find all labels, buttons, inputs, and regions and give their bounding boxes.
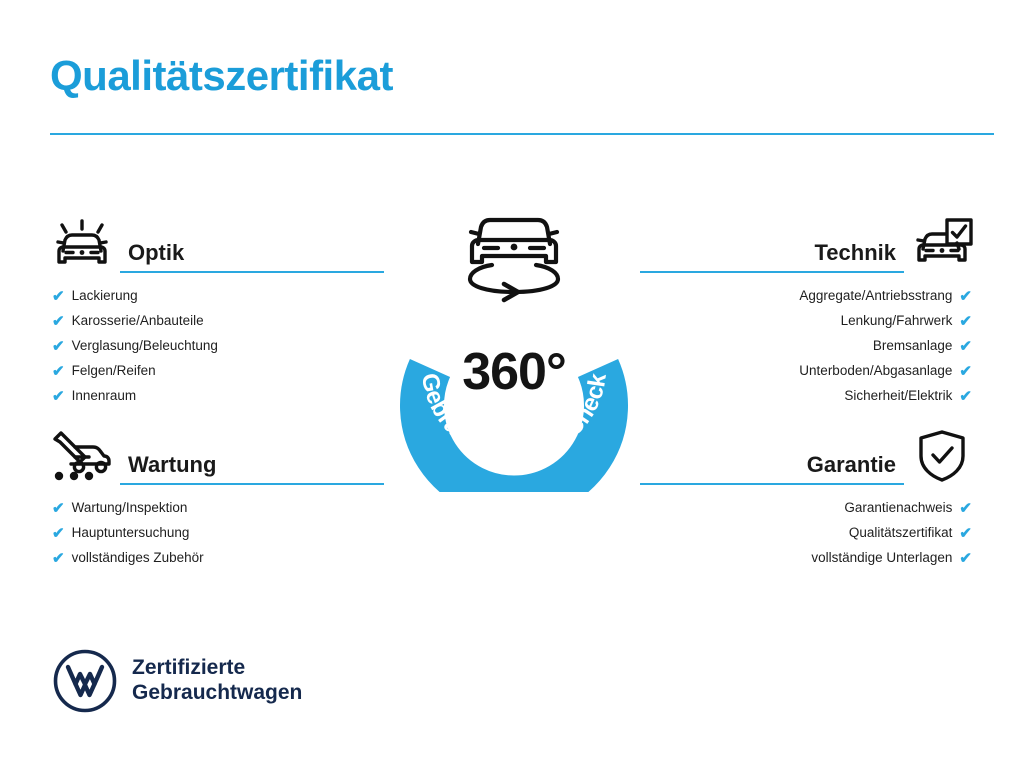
list-item: ✔vollständige Unterlagen	[640, 551, 972, 566]
list-item: ✔Qualitätszertifikat	[640, 526, 972, 541]
section-optik-underline	[120, 271, 384, 273]
check-icon: ✔	[52, 501, 65, 516]
list-item: ✔Unterboden/Abgasanlage	[640, 364, 972, 379]
list-item-label: Garantienachweis	[844, 501, 952, 516]
list-item-label: Bremsanlage	[873, 339, 953, 354]
list-item-label: Qualitätszertifikat	[849, 526, 953, 541]
list-item-label: Verglasung/Beleuchtung	[72, 339, 218, 354]
list-item: ✔Innenraum	[52, 389, 384, 404]
vw-logo-icon	[52, 648, 118, 714]
section-wartung-title-wrap: Wartung	[120, 453, 384, 487]
section-optik-title: Optik	[120, 241, 384, 271]
section-garantie-title-wrap: Garantie	[640, 453, 904, 487]
car-checkbox-icon	[904, 213, 980, 275]
list-item: ✔Wartung/Inspektion	[52, 501, 384, 516]
list-item: ✔Garantienachweis	[640, 501, 972, 516]
section-optik-header: Optik	[44, 203, 384, 275]
check-icon: ✔	[52, 364, 65, 379]
car-shine-icon	[44, 213, 120, 275]
section-technik: Technik ✔Aggregate/Antriebsstrang ✔Lenku…	[640, 203, 980, 414]
list-item-label: Aggregate/Antriebsstrang	[799, 289, 952, 304]
section-wartung-underline	[120, 483, 384, 485]
check-icon: ✔	[959, 339, 972, 354]
vw-logo-text: Zertifizierte Gebrauchtwagen	[132, 656, 302, 706]
section-wartung-header: Wartung	[44, 415, 384, 487]
list-item-label: Unterboden/Abgasanlage	[799, 364, 952, 379]
title-divider	[50, 133, 994, 135]
section-technik-title: Technik	[640, 241, 904, 271]
list-item: ✔Verglasung/Beleuchtung	[52, 339, 384, 354]
vw-certified-logo: Zertifizierte Gebrauchtwagen	[52, 648, 302, 714]
list-item: ✔Lackierung	[52, 289, 384, 304]
check-icon: ✔	[52, 314, 65, 329]
list-item-label: Innenraum	[72, 389, 137, 404]
list-item-label: Sicherheit/Elektrik	[844, 389, 952, 404]
check-icon: ✔	[959, 389, 972, 404]
section-technik-title-wrap: Technik	[640, 241, 904, 275]
vw-logo-line1: Zertifizierte	[132, 656, 302, 681]
list-item-label: Karosserie/Anbauteile	[72, 314, 204, 329]
section-optik-title-wrap: Optik	[120, 241, 384, 275]
check-icon: ✔	[52, 339, 65, 354]
list-item: ✔Bremsanlage	[640, 339, 972, 354]
list-item-label: Hauptuntersuchung	[72, 526, 190, 541]
vw-logo-line2: Gebrauchtwagen	[132, 681, 302, 706]
check-icon: ✔	[959, 364, 972, 379]
section-technik-underline	[640, 271, 904, 273]
section-garantie-underline	[640, 483, 904, 485]
list-item: ✔Lenkung/Fahrwerk	[640, 314, 972, 329]
check-icon: ✔	[52, 289, 65, 304]
list-item: ✔Sicherheit/Elektrik	[640, 389, 972, 404]
section-optik: Optik ✔Lackierung ✔Karosserie/Anbauteile…	[44, 203, 384, 414]
check-icon: ✔	[959, 501, 972, 516]
badge-360-gebrauchtwagen-check: Gebrauchtwagen-Check 360°	[378, 196, 650, 492]
car-rotate-360-icon	[470, 220, 558, 300]
list-item: ✔Hauptuntersuchung	[52, 526, 384, 541]
list-item-label: Lenkung/Fahrwerk	[841, 314, 953, 329]
list-item-label: Wartung/Inspektion	[72, 501, 188, 516]
check-icon: ✔	[52, 389, 65, 404]
check-icon: ✔	[52, 551, 65, 566]
wrench-car-service-icon	[44, 425, 120, 487]
section-wartung-title: Wartung	[120, 453, 384, 483]
check-icon: ✔	[52, 526, 65, 541]
page-title: Qualitätszertifikat	[50, 52, 393, 100]
section-wartung-list: ✔Wartung/Inspektion ✔Hauptuntersuchung ✔…	[44, 501, 384, 566]
certificate-page: Qualitätszertifikat	[0, 0, 1024, 768]
check-icon: ✔	[959, 526, 972, 541]
check-icon: ✔	[959, 551, 972, 566]
section-optik-list: ✔Lackierung ✔Karosserie/Anbauteile ✔Verg…	[44, 289, 384, 404]
section-garantie-header: Garantie	[640, 415, 980, 487]
list-item-label: Felgen/Reifen	[72, 364, 156, 379]
section-wartung: Wartung ✔Wartung/Inspektion ✔Hauptunters…	[44, 415, 384, 576]
section-garantie-title: Garantie	[640, 453, 904, 483]
shield-check-icon	[904, 425, 980, 487]
list-item-label: Lackierung	[72, 289, 138, 304]
list-item-label: vollständige Unterlagen	[811, 551, 952, 566]
list-item: ✔Felgen/Reifen	[52, 364, 384, 379]
section-technik-header: Technik	[640, 203, 980, 275]
section-technik-list: ✔Aggregate/Antriebsstrang ✔Lenkung/Fahrw…	[640, 289, 980, 404]
list-item: ✔Aggregate/Antriebsstrang	[640, 289, 972, 304]
section-garantie-list: ✔Garantienachweis ✔Qualitätszertifikat ✔…	[640, 501, 980, 566]
section-garantie: Garantie ✔Garantienachweis ✔Qualitätszer…	[640, 415, 980, 576]
list-item: ✔vollständiges Zubehör	[52, 551, 384, 566]
list-item-label: vollständiges Zubehör	[72, 551, 204, 566]
check-icon: ✔	[959, 314, 972, 329]
check-icon: ✔	[959, 289, 972, 304]
list-item: ✔Karosserie/Anbauteile	[52, 314, 384, 329]
